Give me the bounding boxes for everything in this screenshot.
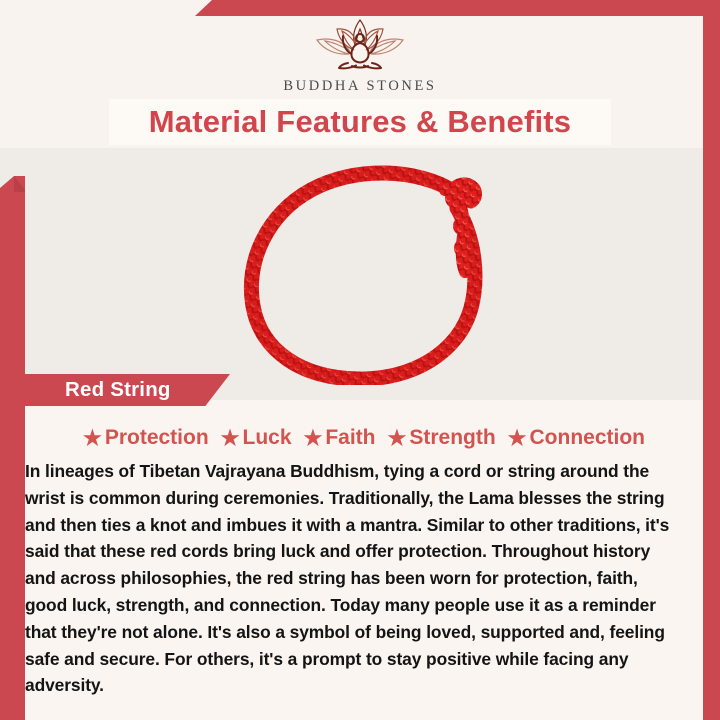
section-title: Red String	[65, 378, 171, 402]
star-icon: ★	[388, 428, 407, 449]
benefit-label: Luck	[243, 426, 292, 450]
benefit-item-strength: ★ Strength	[388, 426, 496, 450]
poster-root: BUDDHA STONES Material Features & Benefi…	[0, 0, 720, 720]
star-icon: ★	[221, 428, 240, 449]
benefit-label: Protection	[105, 426, 209, 450]
star-icon: ★	[304, 428, 323, 449]
benefit-label: Strength	[409, 426, 495, 450]
brand-logo: BUDDHA STONES	[0, 16, 720, 95]
page-title-band: Material Features & Benefits	[109, 99, 611, 145]
page-title: Material Features & Benefits	[149, 104, 572, 140]
decorative-bar-left	[0, 176, 25, 720]
benefit-label: Faith	[325, 426, 375, 450]
decorative-bar-top	[195, 0, 720, 16]
benefit-item-luck: ★ Luck	[221, 426, 292, 450]
benefit-item-faith: ★ Faith	[304, 426, 376, 450]
star-icon: ★	[83, 428, 102, 449]
brand-name: BUDDHA STONES	[283, 78, 436, 95]
benefit-label: Connection	[530, 426, 646, 450]
benefit-item-connection: ★ Connection	[508, 426, 645, 450]
star-icon: ★	[508, 428, 527, 449]
product-image	[205, 150, 515, 385]
section-ribbon: Red String	[25, 374, 230, 406]
description-text: In lineages of Tibetan Vajrayana Buddhis…	[25, 458, 703, 699]
benefits-list: ★ Protection ★ Luck ★ Faith ★ Strength ★…	[25, 420, 703, 456]
decorative-bar-right	[703, 16, 720, 720]
lotus-meditation-icon	[300, 16, 420, 74]
benefit-item-protection: ★ Protection	[83, 426, 209, 450]
